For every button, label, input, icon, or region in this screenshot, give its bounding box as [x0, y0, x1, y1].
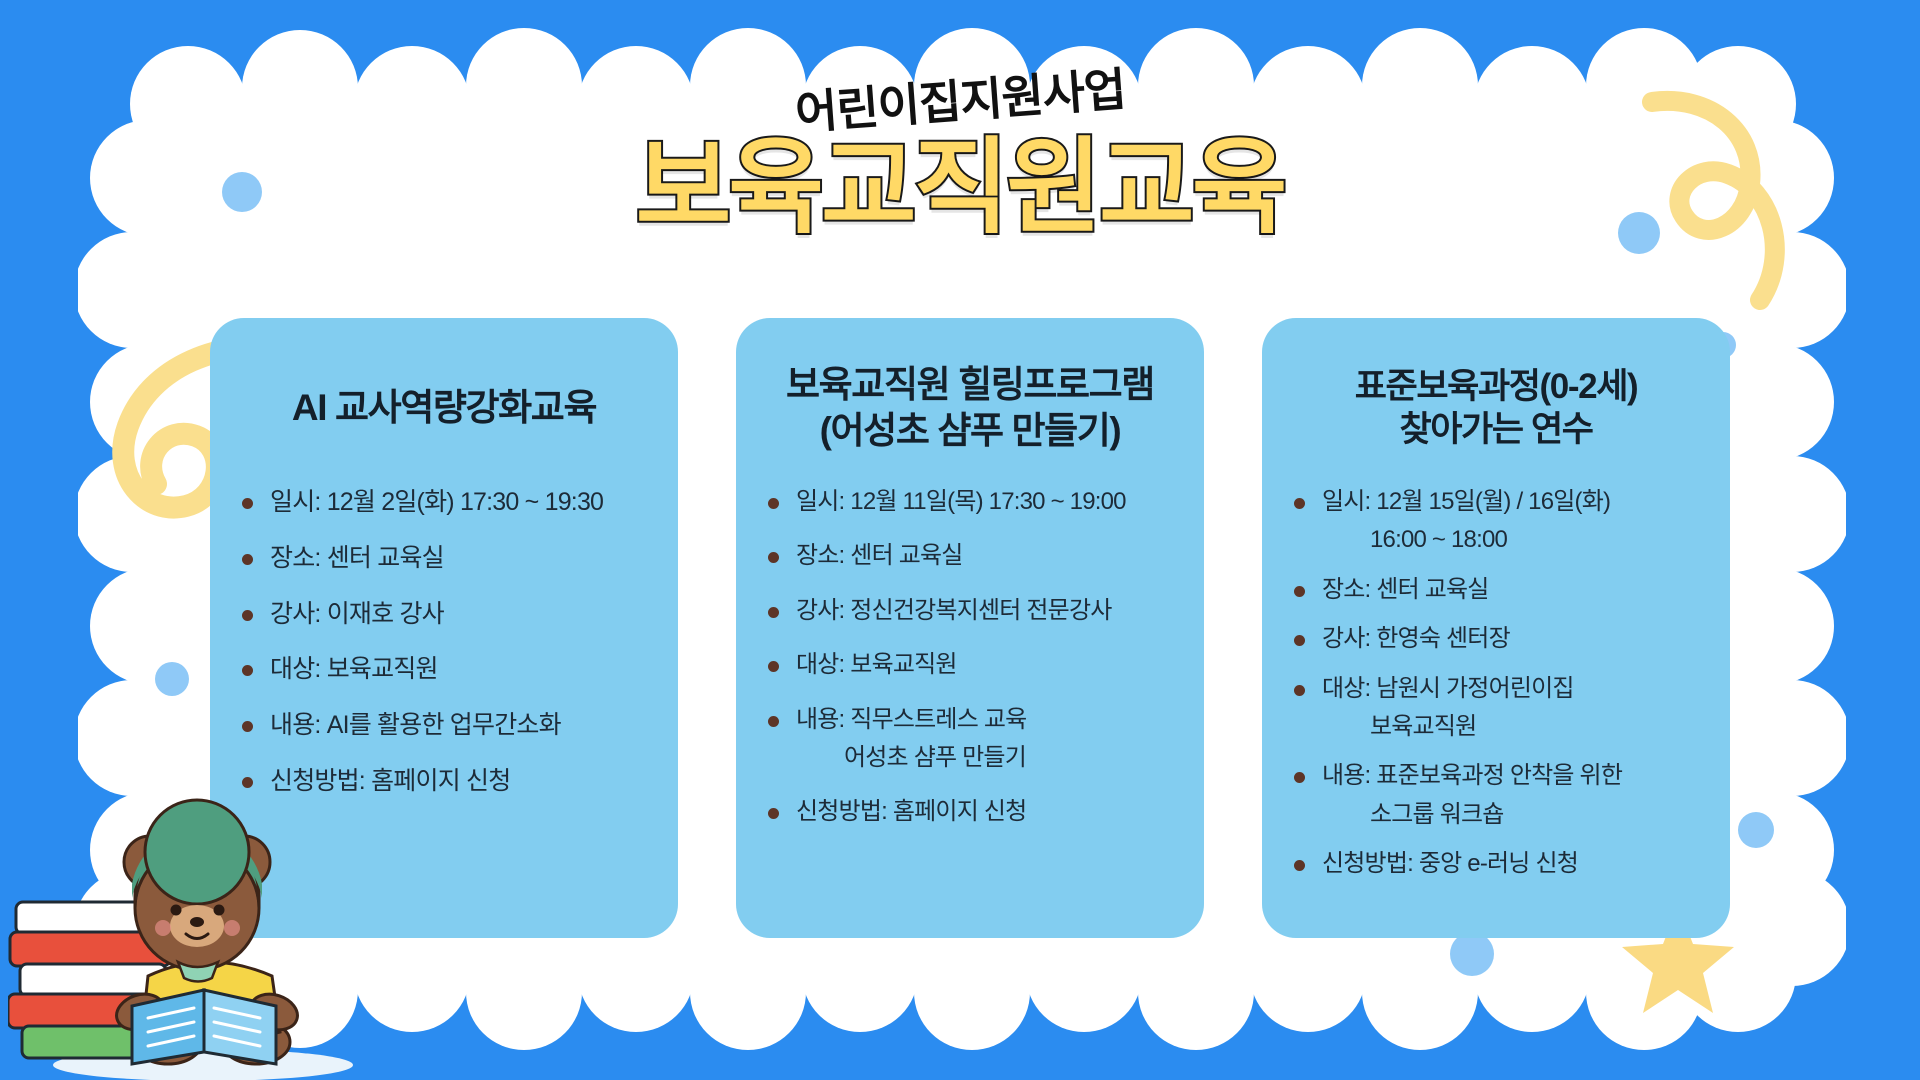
bullet-text: 일시: 12월 2일(화) 17:30 ~ 19:30: [270, 488, 603, 516]
list-item: 일시: 12월 11일(목) 17:30 ~ 19:00: [762, 486, 1178, 518]
title-area: 어린이집지원사업 보육교직원교육: [0, 78, 1920, 244]
card-title-line: 찾아가는 연수: [1288, 408, 1704, 451]
program-card-standard-curriculum[interactable]: 표준보육과정(0-2세) 찾아가는 연수 일시: 12월 15일(월) / 16…: [1262, 318, 1730, 938]
list-item: 내용: AI를 활용한 업무간소화: [236, 709, 652, 743]
card-title-line: 보육교직원 힐링프로그램: [762, 362, 1178, 408]
bullet-text: 내용: 직무스트레스 교육: [796, 706, 1026, 733]
bullet-subtext: 소그룹 워크숍: [1322, 799, 1704, 831]
card-bullet-list: 일시: 12월 15일(월) / 16일(화) 16:00 ~ 18:00 장소…: [1288, 486, 1704, 898]
list-item: 장소: 센터 교육실: [762, 540, 1178, 572]
list-item: 장소: 센터 교육실: [1288, 574, 1704, 606]
program-cards: AI 교사역량강화교육 일시: 12월 2일(화) 17:30 ~ 19:30 …: [210, 318, 1730, 938]
list-item: 신청방법: 중앙 e-러닝 신청: [1288, 848, 1704, 880]
card-title-line: 표준보육과정(0-2세): [1288, 365, 1704, 408]
list-item: 강사: 이재호 강사: [236, 598, 652, 632]
card-title: 표준보육과정(0-2세) 찾아가는 연수: [1288, 356, 1704, 460]
decor-dot: [155, 662, 189, 696]
bullet-text: 대상: 남원시 가정어린이집: [1322, 675, 1574, 702]
decor-dot: [1450, 932, 1494, 976]
decor-dot: [1738, 812, 1774, 848]
bullet-subtext: 16:00 ~ 18:00: [1322, 524, 1704, 556]
list-item: 신청방법: 홈페이지 신청: [762, 796, 1178, 828]
list-item: 일시: 12월 15일(월) / 16일(화) 16:00 ~ 18:00: [1288, 486, 1704, 557]
card-bullet-list: 일시: 12월 2일(화) 17:30 ~ 19:30 장소: 센터 교육실 강…: [236, 486, 652, 821]
program-card-healing-program[interactable]: 보육교직원 힐링프로그램 (어성초 샴푸 만들기) 일시: 12월 11일(목)…: [736, 318, 1204, 938]
list-item: 내용: 직무스트레스 교육 어성초 샴푸 만들기: [762, 704, 1178, 775]
bullet-text: 대상: 보육교직원: [270, 655, 438, 683]
bullet-text: 내용: 표준보육과정 안착을 위한: [1322, 762, 1622, 789]
list-item: 일시: 12월 2일(화) 17:30 ~ 19:30: [236, 486, 652, 520]
bullet-text: 장소: 센터 교육실: [270, 544, 444, 572]
bullet-text: 강사: 정신건강복지센터 전문강사: [796, 597, 1112, 624]
list-item: 강사: 정신건강복지센터 전문강사: [762, 595, 1178, 627]
card-title: 보육교직원 힐링프로그램 (어성초 샴푸 만들기): [762, 356, 1178, 460]
bullet-text: 신청방법: 중앙 e-러닝 신청: [1322, 850, 1578, 877]
bullet-text: 강사: 한영숙 센터장: [1322, 625, 1510, 652]
bullet-text: 일시: 12월 11일(목) 17:30 ~ 19:00: [796, 488, 1126, 515]
bullet-text: 대상: 보육교직원: [796, 651, 957, 678]
bear-mascot-icon: [8, 780, 378, 1080]
card-title-line: AI 교사역량강화교육: [236, 385, 652, 431]
page-title: 보육교직원교육: [0, 132, 1920, 244]
card-bullet-list: 일시: 12월 11일(목) 17:30 ~ 19:00 장소: 센터 교육실 …: [762, 486, 1178, 851]
list-item: 대상: 보육교직원: [762, 649, 1178, 681]
bullet-text: 내용: AI를 활용한 업무간소화: [270, 711, 561, 739]
bullet-text: 장소: 센터 교육실: [796, 542, 963, 569]
bullet-text: 신청방법: 홈페이지 신청: [796, 798, 1026, 825]
bullet-text: 장소: 센터 교육실: [1322, 576, 1489, 603]
list-item: 내용: 표준보육과정 안착을 위한 소그룹 워크숍: [1288, 760, 1704, 831]
bullet-text: 강사: 이재호 강사: [270, 600, 444, 628]
list-item: 장소: 센터 교육실: [236, 542, 652, 576]
card-title: AI 교사역량강화교육: [236, 356, 652, 460]
poster-root: 어린이집지원사업 보육교직원교육 AI 교사역량강화교육 일시: 12월 2일(…: [0, 0, 1920, 1080]
list-item: 강사: 한영숙 센터장: [1288, 623, 1704, 655]
card-title-line: (어성초 샴푸 만들기): [762, 408, 1178, 454]
bullet-subtext: 어성초 샴푸 만들기: [796, 742, 1178, 774]
bullet-text: 일시: 12월 15일(월) / 16일(화): [1322, 488, 1610, 515]
list-item: 대상: 남원시 가정어린이집 보육교직원: [1288, 673, 1704, 744]
list-item: 대상: 보육교직원: [236, 653, 652, 687]
bullet-subtext: 보육교직원: [1322, 711, 1704, 743]
